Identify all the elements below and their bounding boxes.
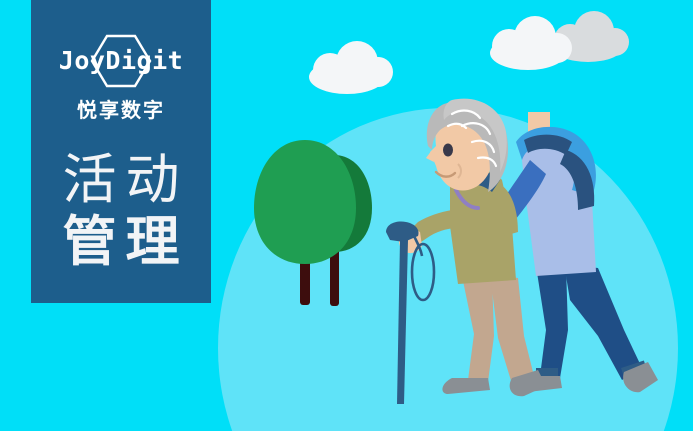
brand-name-cn: 悦享数字 [77,94,165,123]
brand-panel: JoyDigit 悦享数字 活动 管理 [31,0,211,303]
cloud-right-white-icon [490,16,572,70]
logo-wordmark: JoyDigit [56,44,186,78]
poster-canvas: JoyDigit 悦享数字 活动 管理 [0,0,693,431]
title-line-1: 活动 [54,149,189,211]
cloud-left-icon [309,41,393,94]
page-title: 活动 管理 [54,149,189,273]
woman-eye [443,144,453,157]
logo: JoyDigit [56,34,186,88]
title-line-2: 管理 [54,211,189,273]
